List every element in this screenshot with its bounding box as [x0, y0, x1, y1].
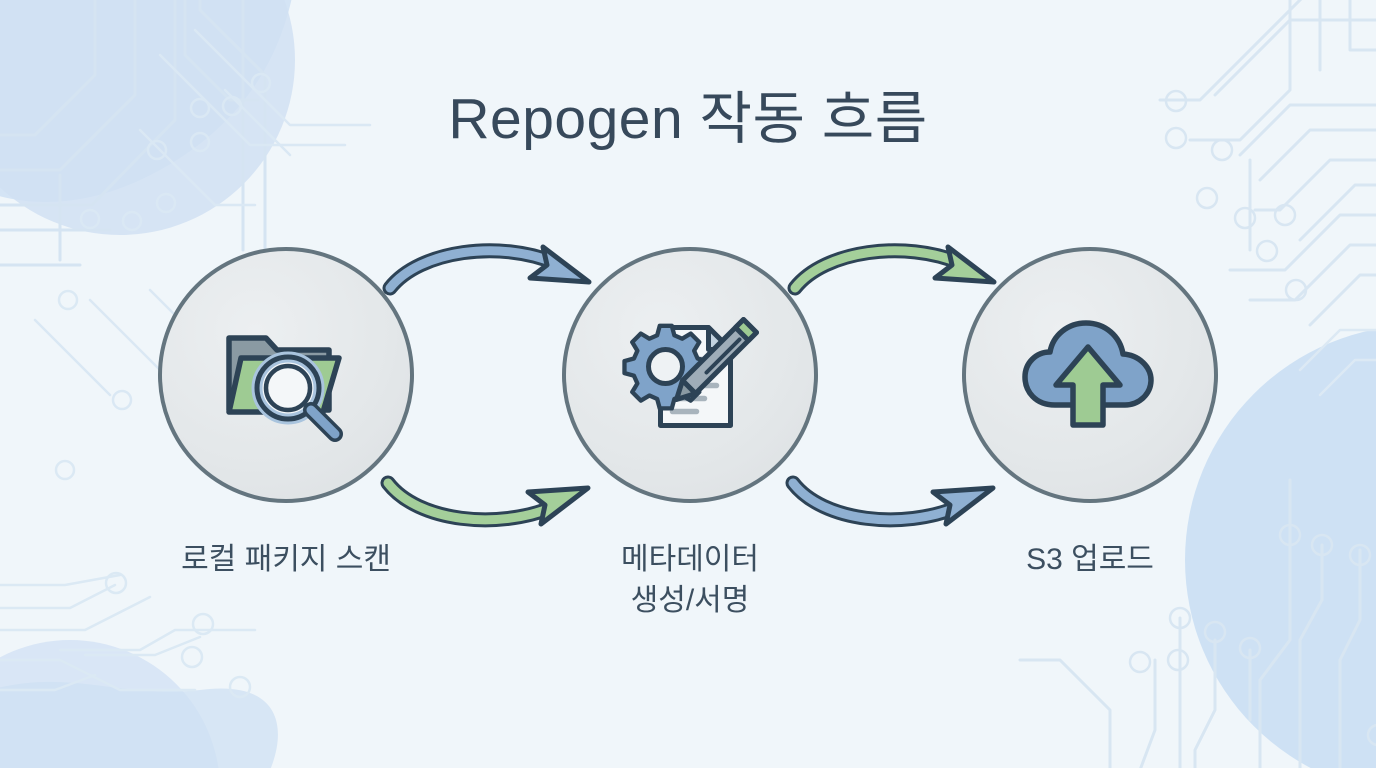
step-label-line: 메타데이터 [525, 540, 855, 581]
diagram-canvas: Repogen 작동 흐름 [0, 0, 1376, 768]
step-node-upload[interactable] [962, 247, 1218, 503]
step-node-metadata[interactable] [562, 247, 818, 503]
step-label-line: 로컬 패키지 스캔 [121, 540, 451, 581]
step-label-upload: S3 업로드 [925, 540, 1255, 581]
step-label-line: 생성/서명 [525, 581, 855, 622]
folder-search-icon [211, 300, 361, 450]
step-label-scan: 로컬 패키지 스캔 [121, 540, 451, 581]
step-node-scan[interactable] [158, 247, 414, 503]
document-gear-pen-icon [613, 298, 768, 453]
page-title: Repogen 작동 흐름 [0, 88, 1376, 151]
step-label-line: S3 업로드 [925, 540, 1255, 581]
cloud-upload-icon [1015, 305, 1165, 445]
step-label-metadata: 메타데이터 생성/서명 [525, 540, 855, 621]
